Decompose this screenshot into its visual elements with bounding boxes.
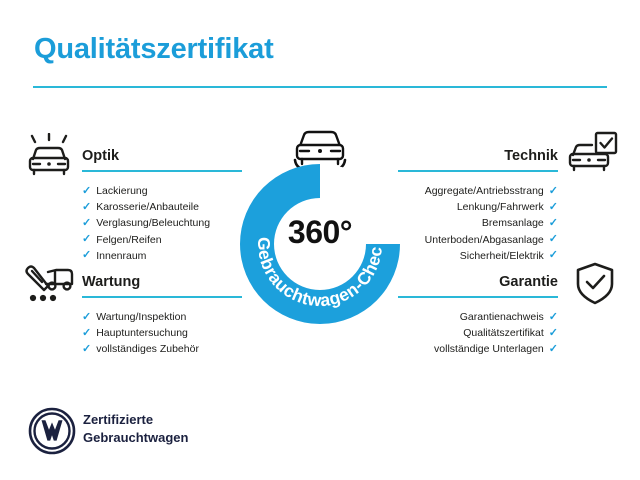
section-header-garantie: Garantie (398, 272, 558, 298)
footer-line-1: Zertifizierte (83, 411, 188, 429)
list-item: ✓ Innenraum (82, 248, 242, 264)
footer-line-2: Gebrauchtwagen (83, 429, 188, 447)
check-icon: ✓ (549, 186, 558, 197)
list-item-label: Hauptuntersuchung (96, 325, 188, 341)
section-list-wartung: ✓ Wartung/Inspektion ✓ Hauptuntersuchung… (82, 309, 242, 358)
list-item-label: Bremsanlage (482, 215, 544, 231)
vw-logo (28, 407, 76, 455)
section-header-optik: Optik (82, 146, 242, 172)
section-list-technik: Aggregate/Antriebsstrang ✓ Lenkung/Fahrw… (398, 183, 558, 264)
section-header-technik: Technik (398, 146, 558, 172)
list-item: Unterboden/Abgasanlage ✓ (398, 232, 558, 248)
section-garantie: Garantie Garantienachweis ✓ Qualitätszer… (398, 272, 558, 358)
list-item-label: Innenraum (96, 248, 146, 264)
section-technik: Technik Aggregate/Antriebsstrang ✓ Lenku… (398, 146, 558, 264)
section-header-wartung: Wartung (82, 272, 242, 298)
list-item-label: Karosserie/Anbauteile (96, 199, 199, 215)
page-title: Qualitätszertifikat (34, 33, 274, 66)
list-item-label: Qualitätszertifikat (463, 325, 544, 341)
list-item-label: vollständiges Zubehör (96, 341, 199, 357)
car-shine-icon (22, 133, 76, 177)
check-icon: ✓ (549, 328, 558, 339)
check-icon: ✓ (549, 312, 558, 323)
section-divider (82, 296, 242, 298)
list-item: Sicherheit/Elektrik ✓ (398, 248, 558, 264)
list-item: Lenkung/Fahrwerk ✓ (398, 199, 558, 215)
car-checkbox-icon (566, 131, 618, 175)
check-icon: ✓ (549, 250, 558, 261)
certificate-page: Qualitätszertifikat Optik ✓ Lackierung ✓… (0, 0, 640, 480)
check-icon: ✓ (82, 344, 91, 355)
check-icon: ✓ (549, 234, 558, 245)
list-item: Garantienachweis ✓ (398, 309, 558, 325)
section-list-garantie: Garantienachweis ✓ Qualitätszertifikat ✓… (398, 309, 558, 358)
list-item-label: Verglasung/Beleuchtung (96, 215, 210, 231)
list-item: ✓ Verglasung/Beleuchtung (82, 215, 242, 231)
check-icon: ✓ (82, 328, 91, 339)
list-item-label: Wartung/Inspektion (96, 309, 186, 325)
car-service-tool-icon (22, 262, 78, 308)
check-icon: ✓ (82, 202, 91, 213)
list-item-label: Garantienachweis (460, 309, 544, 325)
section-title: Optik (82, 146, 242, 166)
list-item: ✓ Lackierung (82, 183, 242, 199)
title-divider (33, 86, 607, 88)
section-wartung: Wartung ✓ Wartung/Inspektion ✓ Hauptunte… (82, 272, 242, 358)
list-item: Aggregate/Antriebsstrang ✓ (398, 183, 558, 199)
badge-360-gebrauchtwagen-check: Gebrauchtwagen-Check 360° (228, 152, 412, 336)
list-item-label: Unterboden/Abgasanlage (425, 232, 544, 248)
check-icon: ✓ (82, 186, 91, 197)
list-item-label: Sicherheit/Elektrik (460, 248, 544, 264)
list-item: ✓ vollständiges Zubehör (82, 341, 242, 357)
list-item: Bremsanlage ✓ (398, 215, 558, 231)
list-item: vollständige Unterlagen ✓ (398, 341, 558, 357)
check-icon: ✓ (549, 218, 558, 229)
check-icon: ✓ (549, 344, 558, 355)
check-icon: ✓ (82, 312, 91, 323)
section-optik: Optik ✓ Lackierung ✓ Karosserie/Anbautei… (82, 146, 242, 264)
list-item: ✓ Hauptuntersuchung (82, 325, 242, 341)
list-item: ✓ Felgen/Reifen (82, 232, 242, 248)
check-icon: ✓ (82, 218, 91, 229)
list-item-label: Aggregate/Antriebsstrang (425, 183, 544, 199)
section-list-optik: ✓ Lackierung ✓ Karosserie/Anbauteile ✓ V… (82, 183, 242, 264)
section-title: Garantie (398, 272, 558, 292)
list-item-label: Felgen/Reifen (96, 232, 161, 248)
footer-brand-text: Zertifizierte Gebrauchtwagen (83, 411, 188, 446)
check-icon: ✓ (82, 234, 91, 245)
list-item: ✓ Wartung/Inspektion (82, 309, 242, 325)
list-item: Qualitätszertifikat ✓ (398, 325, 558, 341)
section-divider (398, 296, 558, 298)
list-item-label: vollständige Unterlagen (434, 341, 544, 357)
section-title: Technik (398, 146, 558, 166)
list-item-label: Lenkung/Fahrwerk (457, 199, 544, 215)
section-title: Wartung (82, 272, 242, 292)
shield-check-icon (573, 261, 617, 307)
check-icon: ✓ (549, 202, 558, 213)
list-item: ✓ Karosserie/Anbauteile (82, 199, 242, 215)
badge-degrees: 360° (228, 214, 412, 251)
section-divider (82, 170, 242, 172)
check-icon: ✓ (82, 250, 91, 261)
section-divider (398, 170, 558, 172)
list-item-label: Lackierung (96, 183, 147, 199)
